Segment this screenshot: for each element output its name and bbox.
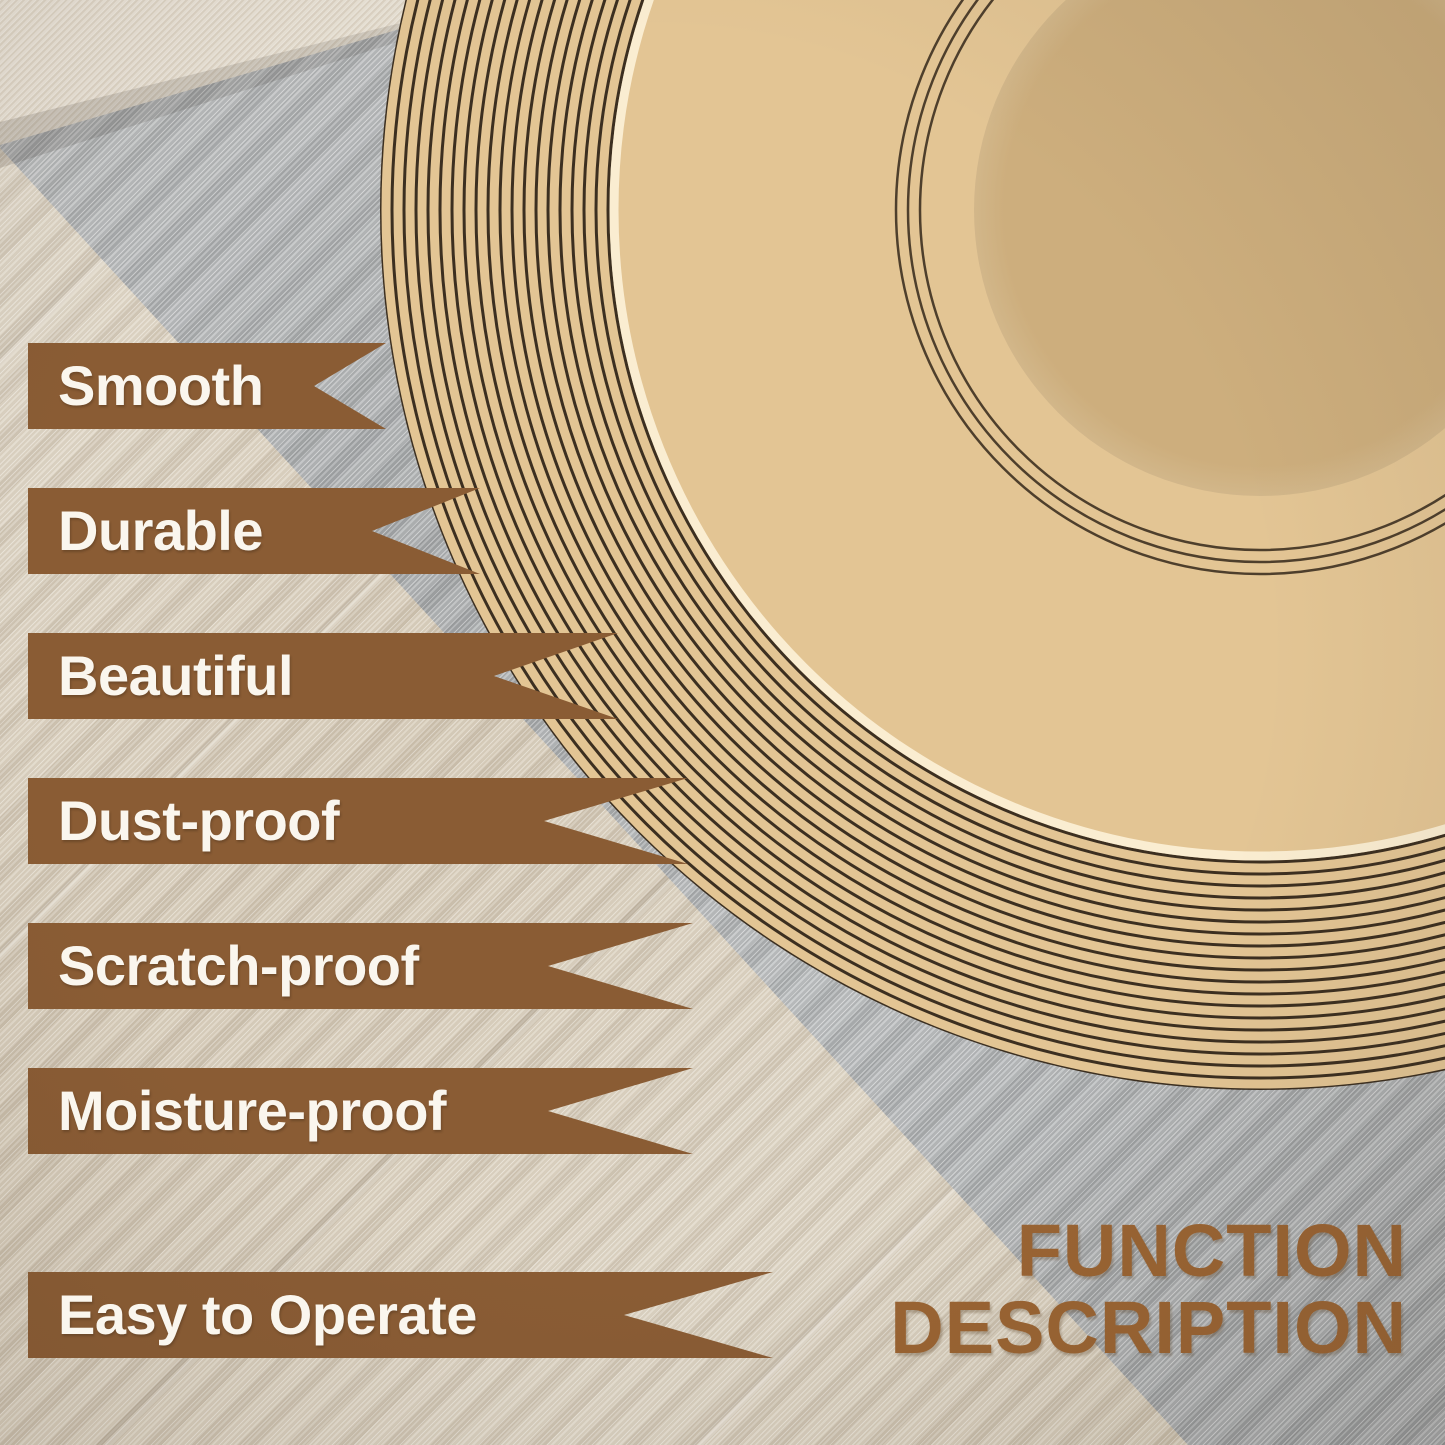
feature-label: Dust-proof bbox=[58, 793, 339, 849]
feature-label: Moisture-proof bbox=[58, 1083, 446, 1139]
vignette-overlay bbox=[0, 0, 1445, 1445]
product-feature-graphic: Smooth Durable Beautiful Dust-proof Scra… bbox=[0, 0, 1445, 1445]
feature-label: Durable bbox=[58, 503, 263, 559]
feature-label: Beautiful bbox=[58, 648, 293, 704]
feature-label: Scratch-proof bbox=[58, 938, 419, 994]
feature-label: Smooth bbox=[58, 358, 263, 414]
feature-label: Easy to Operate bbox=[58, 1287, 477, 1343]
